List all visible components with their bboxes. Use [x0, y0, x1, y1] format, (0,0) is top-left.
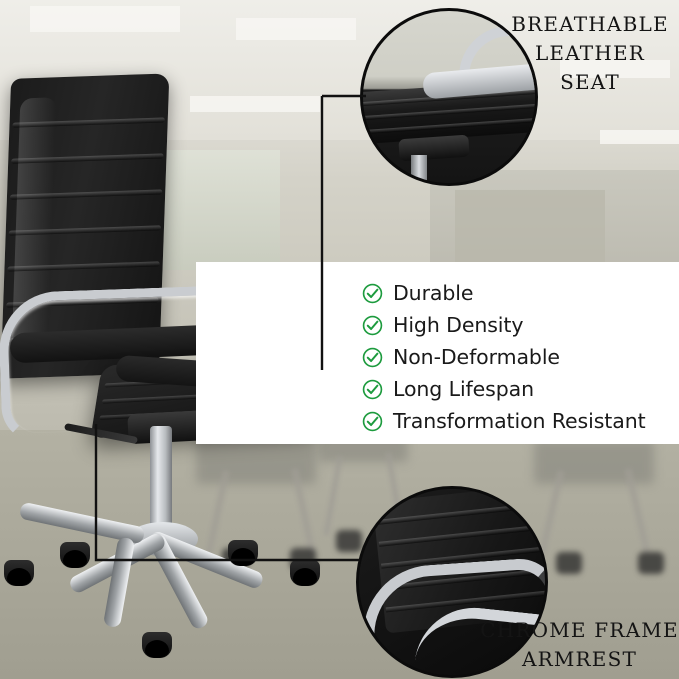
chair-caster [60, 542, 90, 568]
chair-caster [290, 560, 320, 586]
callout-label-top-line-3: SEAT [502, 68, 678, 97]
armrest-detail-rib [376, 503, 542, 525]
check-circle-icon [362, 315, 383, 336]
callout-label-bottom: CHROME FRAME ARMREST [480, 616, 679, 674]
callout-label-bottom-line-2: ARMREST [480, 645, 679, 674]
feature-card: Durable High Density Non-Deformable [196, 262, 679, 444]
feature-label: High Density [393, 313, 523, 337]
mechanism-detail [398, 135, 469, 162]
ceiling-light-panel [236, 18, 356, 40]
check-circle-icon [362, 411, 383, 432]
callout-label-top-line-2: LEATHER [502, 39, 678, 68]
feature-item: Long Lifespan [362, 374, 646, 404]
feature-item: Non-Deformable [362, 342, 646, 372]
feature-label: Long Lifespan [393, 377, 534, 401]
background-chair-caster [556, 552, 582, 574]
background-chair [534, 440, 654, 484]
feature-item: High Density [362, 310, 646, 340]
wall-panel [455, 190, 605, 270]
ceiling-light-panel [30, 6, 180, 32]
ceiling-light-panel [600, 130, 679, 144]
feature-label: Non-Deformable [393, 345, 560, 369]
gas-cylinder [150, 426, 172, 534]
callout-label-bottom-line-1: CHROME FRAME [480, 616, 679, 645]
feature-list: Durable High Density Non-Deformable [362, 278, 646, 436]
chair-caster [142, 632, 172, 658]
feature-item: Durable [362, 278, 646, 308]
chair-caster [4, 560, 34, 586]
feature-label: Durable [393, 281, 473, 305]
callout-label-top-line-1: BREATHABLE [502, 10, 678, 39]
feature-item: Transformation Resistant [362, 406, 646, 436]
background-chair-caster [638, 552, 664, 574]
check-circle-icon [362, 347, 383, 368]
cylinder-detail [411, 155, 427, 186]
check-circle-icon [362, 283, 383, 304]
seat-detail-rib [360, 102, 538, 121]
armrest-detail-rib [379, 524, 545, 546]
check-circle-icon [362, 379, 383, 400]
base-spoke [103, 537, 135, 629]
chair-caster [228, 540, 258, 566]
feature-label: Transformation Resistant [393, 409, 646, 433]
callout-label-top: BREATHABLE LEATHER SEAT [502, 10, 678, 97]
product-infographic: BREATHABLE LEATHER SEAT CHROME FRAME ARM… [0, 0, 679, 679]
